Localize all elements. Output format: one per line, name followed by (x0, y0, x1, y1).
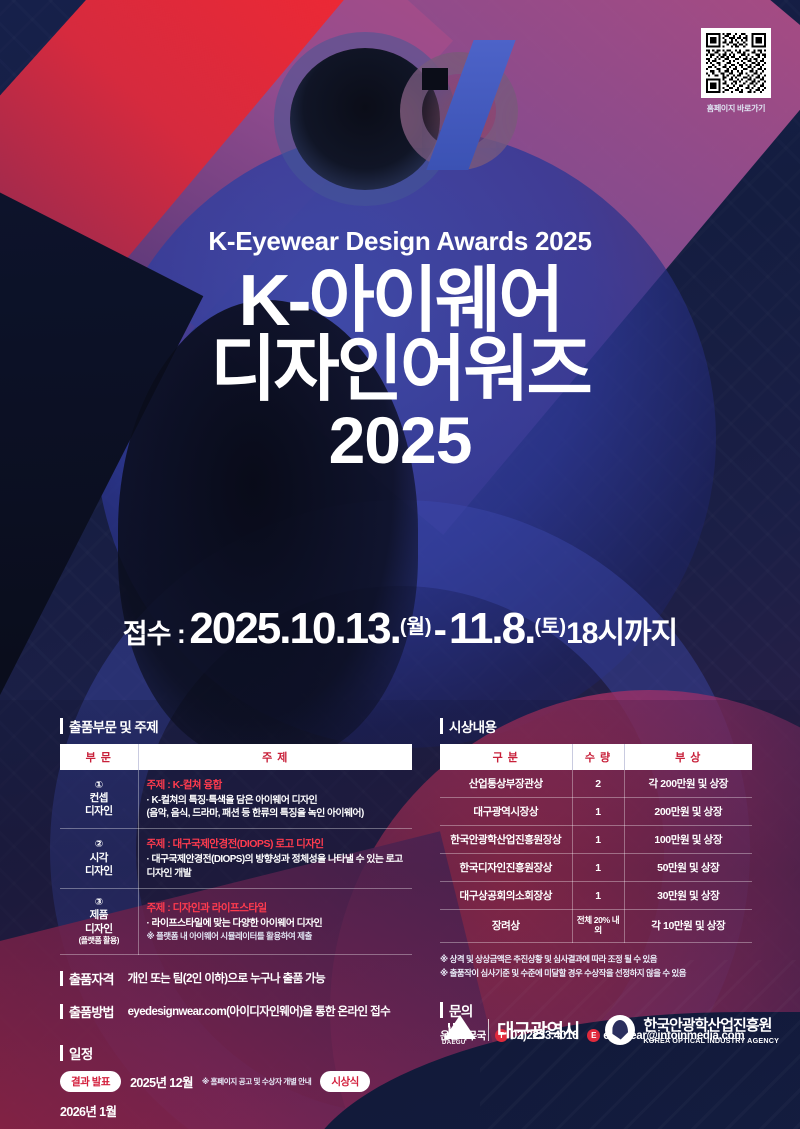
sponsor-logos: DAEGU 대구광역시 한국안광학산업진흥원 KOREA OPTICAL IND… (440, 1014, 779, 1045)
awards-column: 시상내용 구 분 수 량 부 상 산업통상부장관상 2 각 200만원 및 상장 (440, 716, 752, 1043)
award-prize: 50만원 및 상장 (624, 854, 752, 882)
award-qty: 1 (572, 854, 624, 882)
entry-topic-line: · 라이프스타일에 맞는 다양한 아이웨어 디자인 (147, 917, 407, 930)
table-row: 산업통상부장관상 2 각 200만원 및 상장 (440, 770, 752, 798)
qr-code-icon[interactable] (701, 28, 771, 98)
awards-table-header-row: 구 분 수 량 부 상 (440, 744, 752, 770)
koia-name-kr: 한국안광학산업진흥원 (643, 1014, 779, 1035)
schedule-ceremony-badge: 시상식 (320, 1071, 369, 1092)
award-qty: 1 (572, 882, 624, 910)
table-row: ③ 제품 디자인 (플랫폼 활용) 주제 : 디자인과 라이프스타일 · 라이프… (60, 888, 412, 954)
award-qty: 1 (572, 826, 624, 854)
entry-topic-cell: 주제 : 대구국제안경전(DIOPS) 로고 디자인 · 대구국제안경전(DIO… (138, 829, 412, 888)
entry-part-no: ① (62, 780, 136, 793)
table-row: 한국디자인진흥원장상 1 50만원 및 상장 (440, 854, 752, 882)
award-name: 한국디자인진흥원장상 (440, 854, 572, 882)
qualification-value: 개인 또는 팀(2인 이하)으로 누구나 출품 가능 (128, 970, 325, 986)
title-block: K-Eyewear Design Awards 2025 K-아이웨어 디자인어… (0, 226, 800, 473)
award-prize: 각 200만원 및 상장 (624, 770, 752, 798)
schedule-heading: 일정 (60, 1043, 412, 1063)
brand-emblem (262, 10, 542, 190)
awards-heading: 시상내용 (440, 716, 752, 736)
schedule-ceremony-value: 2026년 1월 (60, 1101, 116, 1120)
table-row: ② 시각 디자인 주제 : 대구국제안경전(DIOPS) 로고 디자인 · 대구… (60, 829, 412, 888)
dateline-label: 접수 : (123, 619, 185, 649)
awards-col-name: 구 분 (440, 744, 572, 770)
daegu-mark-word: DAEGU (442, 1040, 466, 1046)
title-korean: K-아이웨어 디자인어워즈 2025 (0, 267, 800, 473)
title-korean-line2: 디자인어워즈 (0, 336, 800, 405)
daegu-mark-icon: DAEGU (440, 1015, 480, 1045)
schedule-block: 일정 결과 발표 2025년 12월 ※ 홈페이지 공고 및 수상자 개별 안내… (60, 1043, 412, 1120)
entry-part-no: ③ (62, 897, 136, 910)
entry-part-no: ② (62, 839, 136, 852)
table-row: 장려상 전체 20% 내외 각 10만원 및 상장 (440, 910, 752, 943)
awards-note: ※ 출품작이 심사기준 및 수준에 미달할 경우 수상작을 선정하지 않을 수 … (440, 966, 752, 980)
award-prize: 각 10만원 및 상장 (624, 910, 752, 943)
logo-daegu: DAEGU 대구광역시 (440, 1015, 579, 1045)
qualification-label: 출품자격 (60, 969, 114, 988)
awards-col-prize: 부 상 (624, 744, 752, 770)
entry-topic-cell: 주제 : 디자인과 라이프스타일 · 라이프스타일에 맞는 다양한 아이웨어 디… (138, 888, 412, 954)
table-row: 대구광역시장상 1 200만원 및 상장 (440, 798, 752, 826)
schedule-result-badge: 결과 발표 (60, 1071, 121, 1092)
entry-column: 출품부문 및 주제 부 문 주 제 ① 컨셉 디자인 (60, 716, 412, 1120)
award-qty: 2 (572, 770, 624, 798)
entry-table-header-row: 부 문 주 제 (60, 744, 412, 770)
schedule-row: 결과 발표 2025년 12월 ※ 홈페이지 공고 및 수상자 개별 안내 시상… (60, 1071, 412, 1120)
schedule-result-note: ※ 홈페이지 공고 및 수상자 개별 안내 (202, 1076, 311, 1087)
entry-table: 부 문 주 제 ① 컨셉 디자인 주제 : K-컬쳐 융합 · K-컬쳐의 특 (60, 744, 412, 955)
awards-table: 구 분 수 량 부 상 산업통상부장관상 2 각 200만원 및 상장 대구광역… (440, 744, 752, 943)
entry-topic-note: ※ 플랫폼 내 아이웨어 시뮬레이터를 활용하여 제출 (147, 930, 407, 942)
entry-topic-head: 주제 : 대구국제안경전(DIOPS) 로고 디자인 (147, 836, 407, 851)
entry-heading: 출품부문 및 주제 (60, 716, 412, 736)
entry-topic-line: · 대구국제안경전(DIOPS)의 방향성과 정체성을 나타낼 수 있는 로고 … (147, 853, 407, 879)
award-name: 한국안광학산업진흥원장상 (440, 826, 572, 854)
qr-label: 홈페이지 바로가기 (698, 103, 774, 114)
entry-part-line1: 시각 (90, 852, 108, 864)
award-prize: 100만원 및 상장 (624, 826, 752, 854)
title-korean-line1: K-아이웨어 (239, 261, 562, 341)
schedule-result-value: 2025년 12월 (130, 1072, 193, 1091)
entry-col-part: 부 문 (60, 744, 138, 770)
table-row: ① 컨셉 디자인 주제 : K-컬쳐 융합 · K-컬쳐의 특징·특색을 담은 … (60, 770, 412, 829)
award-name: 대구광역시장상 (440, 798, 572, 826)
method-value[interactable]: eyedesignwear.com(아이디자인웨어)을 통한 온라인 접수 (128, 1003, 390, 1019)
table-row: 대구상공회의소회장상 1 30만원 및 상장 (440, 882, 752, 910)
koia-name-en: KOREA OPTICAL INDUSTRY AGENCY (643, 1036, 779, 1045)
dateline-end-day: (토) (534, 616, 566, 638)
award-qty-text: 전체 20% 내외 (575, 916, 622, 936)
entry-col-topic: 주 제 (138, 744, 412, 770)
entry-part-cell: ① 컨셉 디자인 (60, 770, 138, 829)
dateline-start-day: (월) (400, 616, 432, 638)
dateline-end: 11.8. (449, 604, 534, 653)
submission-dateline: 접수 : 2025.10.13.(월)-11.8.(토)18시까지 (0, 604, 800, 654)
entry-topic-line: · K-컬쳐의 특징·특색을 담은 아이웨어 디자인 (147, 794, 407, 807)
award-name: 대구상공회의소회장상 (440, 882, 572, 910)
dateline-tail: 18시까지 (566, 617, 677, 650)
awards-notes: ※ 상격 및 상상금액은 추진상황 및 심사결과에 따라 조정 될 수 있음 ※… (440, 952, 752, 981)
logo-koia: 한국안광학산업진흥원 KOREA OPTICAL INDUSTRY AGENCY (605, 1014, 779, 1045)
entry-topic-line: (음악, 음식, 드라마, 패션 등 한류의 특징을 녹인 아이웨어) (147, 807, 407, 820)
entry-part-line2: 디자인 (85, 805, 112, 817)
title-english: K-Eyewear Design Awards 2025 (0, 226, 800, 257)
dateline-start: 2025.10.13. (189, 604, 399, 653)
qr-block[interactable]: 홈페이지 바로가기 (698, 28, 774, 114)
entry-part-line2: 디자인 (85, 865, 112, 877)
entry-part-cell: ② 시각 디자인 (60, 829, 138, 888)
award-qty: 전체 20% 내외 (572, 910, 624, 943)
koia-mark-icon (605, 1015, 635, 1045)
entry-topic-head: 주제 : 디자인과 라이프스타일 (147, 900, 407, 915)
entry-part-sub: (플랫폼 활용) (62, 936, 136, 946)
poster-root: 홈페이지 바로가기 K-Eyewear Design Awards 2025 K… (0, 0, 800, 1129)
award-name: 산업통상부장관상 (440, 770, 572, 798)
entry-topic-cell: 주제 : K-컬쳐 융합 · K-컬쳐의 특징·특색을 담은 아이웨어 디자인 … (138, 770, 412, 829)
info-area: 출품부문 및 주제 부 문 주 제 ① 컨셉 디자인 (0, 716, 800, 1129)
title-year: 2025 (0, 409, 800, 472)
daegu-name: 대구광역시 (497, 1016, 579, 1043)
logo-divider (488, 1019, 489, 1041)
method-label: 출품방법 (60, 1002, 114, 1021)
award-qty: 1 (572, 798, 624, 826)
awards-col-qty: 수 량 (572, 744, 624, 770)
entry-topic-head: 주제 : K-컬쳐 융합 (147, 777, 407, 792)
awards-note: ※ 상격 및 상상금액은 추진상황 및 심사결과에 따라 조정 될 수 있음 (440, 952, 752, 966)
emblem-notch (422, 68, 448, 90)
entry-part-line1: 컨셉 (90, 792, 108, 804)
table-row: 한국안광학산업진흥원장상 1 100만원 및 상장 (440, 826, 752, 854)
award-prize: 200만원 및 상장 (624, 798, 752, 826)
koia-text: 한국안광학산업진흥원 KOREA OPTICAL INDUSTRY AGENCY (643, 1014, 779, 1045)
entry-part-line1: 제품 (90, 909, 108, 921)
award-prize: 30만원 및 상장 (624, 882, 752, 910)
award-name: 장려상 (440, 910, 572, 943)
qualification-row: 출품자격 개인 또는 팀(2인 이하)으로 누구나 출품 가능 (60, 969, 412, 988)
entry-part-line2: 디자인 (85, 923, 112, 935)
method-row: 출품방법 eyedesignwear.com(아이디자인웨어)을 통한 온라인 … (60, 1002, 412, 1021)
entry-part-cell: ③ 제품 디자인 (플랫폼 활용) (60, 888, 138, 954)
dateline-dash: - (432, 608, 449, 652)
